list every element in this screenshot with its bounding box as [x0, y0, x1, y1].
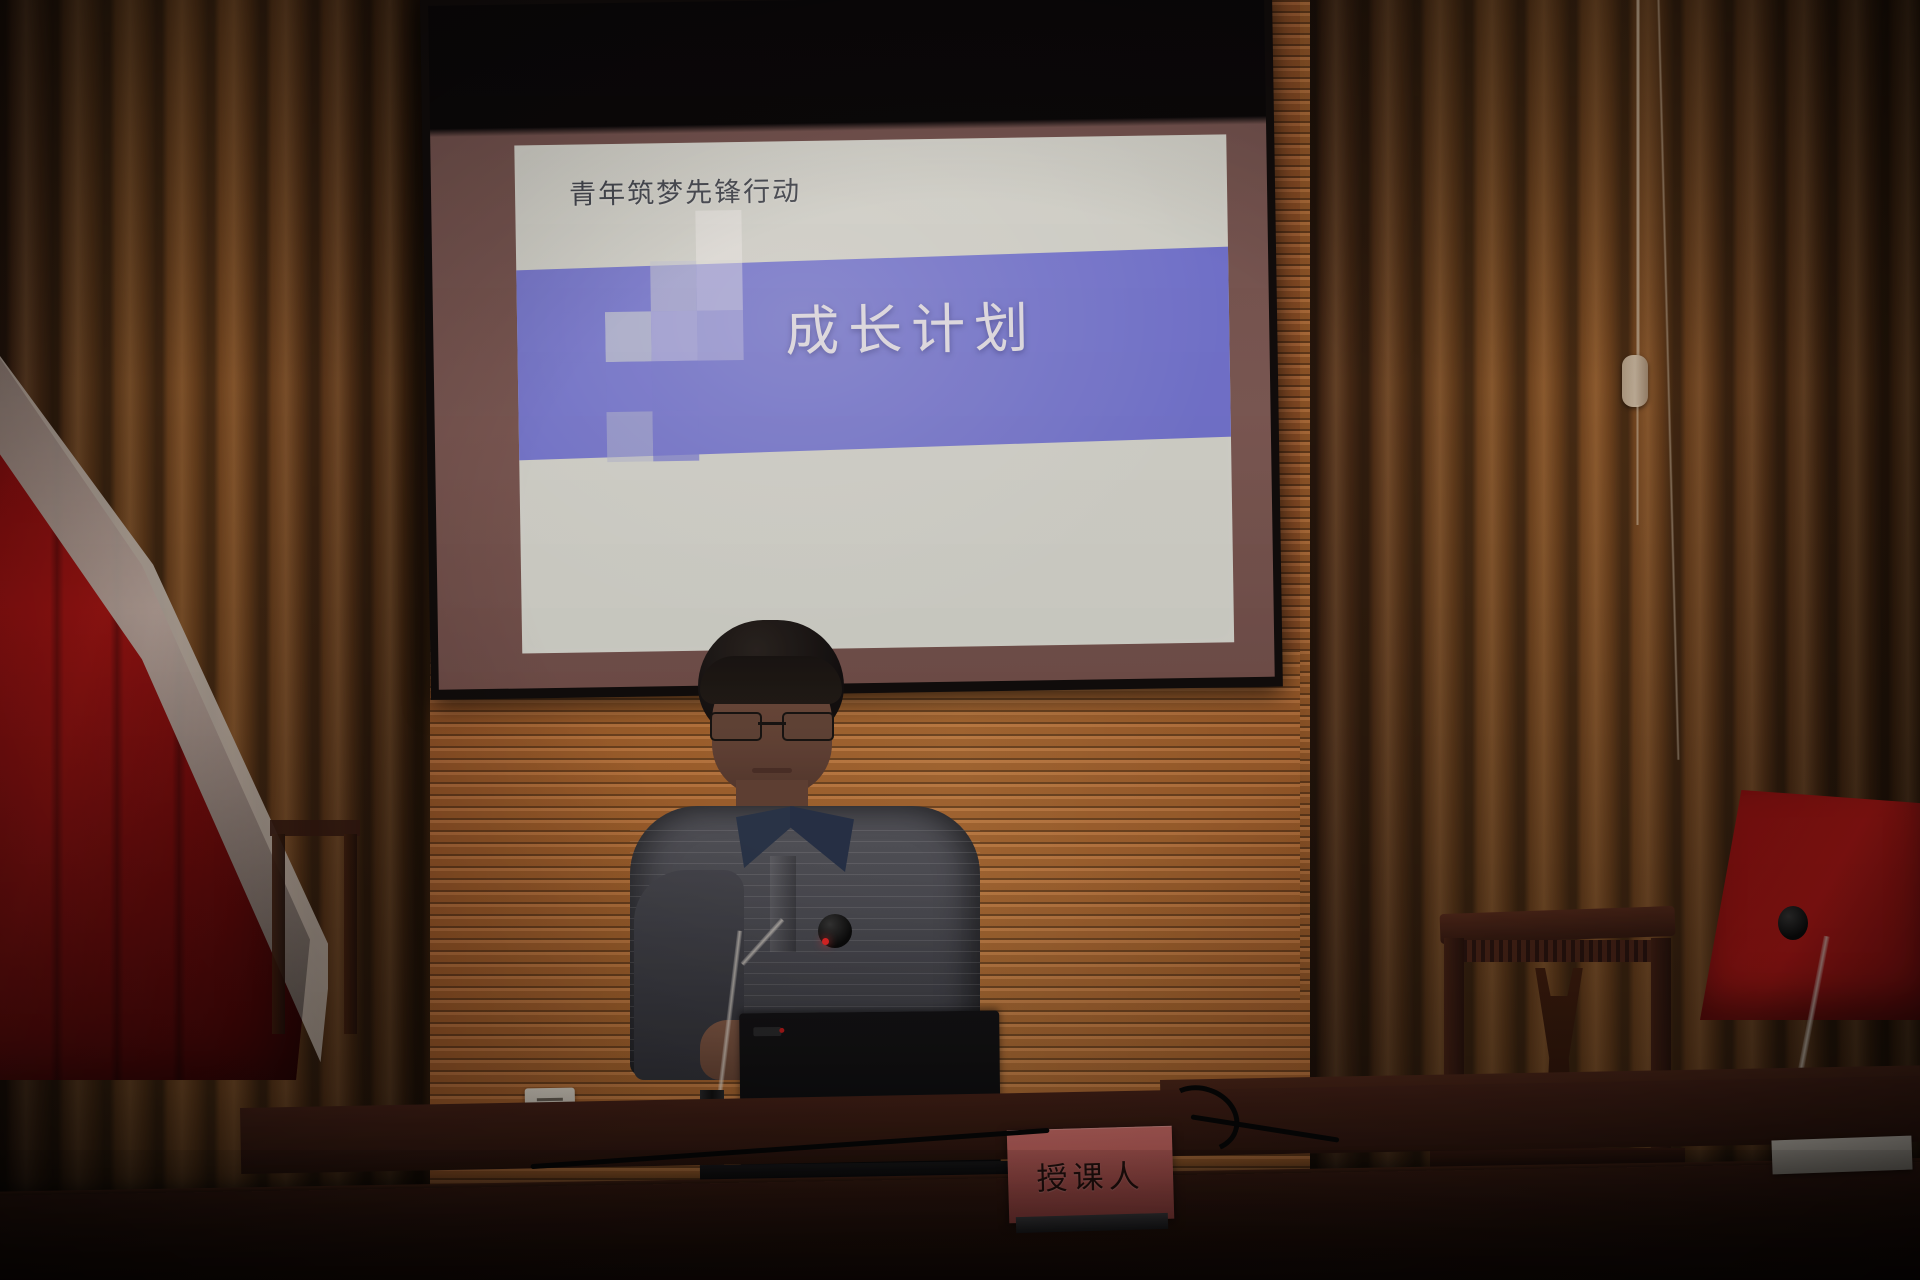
presenter: [640, 620, 960, 1060]
slide-decor-square: [695, 210, 742, 261]
chair-left-stile: [344, 834, 357, 1034]
chair-left-stile: [272, 834, 285, 1034]
slide-decor-square: [651, 311, 698, 362]
microphone-right-head: [1778, 906, 1808, 940]
slide-decor-square: [652, 361, 699, 412]
slide-decor-square: [605, 311, 652, 362]
eyeglass-lens: [710, 712, 762, 741]
slide-decor-square: [650, 261, 697, 312]
photo-scene: 青年筑梦先锋行动 成长计划: [0, 0, 1920, 1280]
presenter-fringe: [700, 656, 842, 704]
presenter-mouth: [752, 768, 792, 773]
nameplate: 授课人: [1007, 1126, 1175, 1224]
laptop-power-led: [779, 1028, 784, 1033]
laptop-logo: [753, 1027, 781, 1036]
slide-title: 成长计划: [785, 283, 1038, 366]
pull-cord-toggle[interactable]: [1622, 355, 1648, 407]
slide-decor-square: [696, 260, 743, 311]
paper-on-table[interactable]: [1771, 1136, 1912, 1175]
eyeglass-lens: [782, 712, 834, 741]
slide-decor-square: [560, 362, 607, 413]
slide-heading: 青年筑梦先锋行动: [569, 169, 802, 212]
slide-decor-square: [652, 411, 699, 462]
slide-decor-square: [606, 411, 653, 462]
eyeglass-bridge: [758, 722, 786, 725]
projected-slide: 青年筑梦先锋行动 成长计划: [514, 134, 1234, 653]
slide-decor-square: [559, 312, 606, 363]
slide-decor-square: [606, 361, 653, 412]
pull-cord-icon[interactable]: [1636, 0, 1640, 400]
microphone-left-led: [822, 938, 829, 945]
chair-left: [270, 820, 360, 1080]
chair-right-crest: [1440, 906, 1676, 944]
eyeglasses-icon: [710, 712, 834, 738]
nameplate-label: 授课人: [1036, 1151, 1145, 1199]
pull-cord-lower[interactable]: [1636, 405, 1639, 525]
shirt-placket: [770, 856, 796, 952]
chair-right-rail: [1454, 940, 1659, 962]
slide-decor-square: [697, 310, 744, 361]
projector-screen: 青年筑梦先锋行动 成长计划: [420, 0, 1283, 700]
